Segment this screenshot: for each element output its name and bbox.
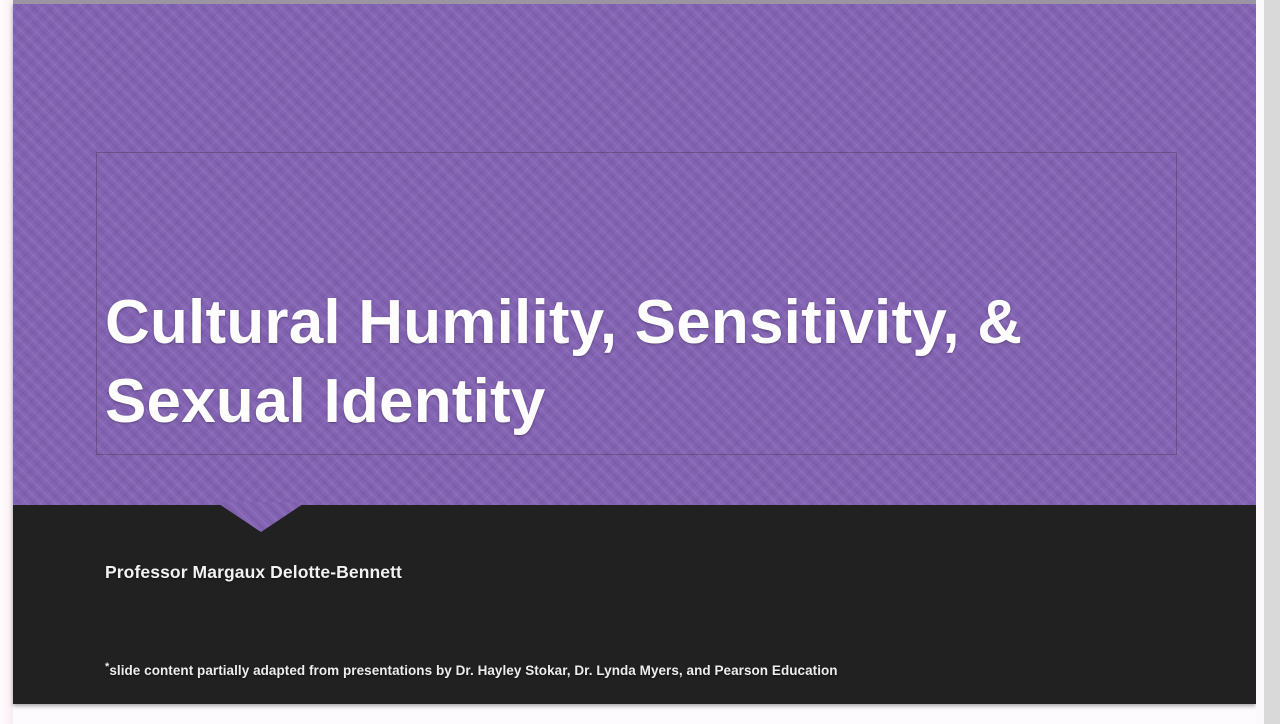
vertical-scrollbar-track[interactable]: [1264, 0, 1280, 724]
page-left-margin: [0, 0, 13, 724]
presentation-viewport: Cultural Humility, Sensitivity, & Sexual…: [0, 0, 1280, 724]
slide-top-border: [13, 0, 1256, 4]
footnote-text: slide content partially adapted from pre…: [109, 663, 837, 678]
page-right-margin: [1256, 0, 1264, 724]
hero-band-pointer-triangle: [216, 502, 306, 532]
slide-author: Professor Margaux Delotte-Bennett: [105, 562, 402, 583]
slide-title: Cultural Humility, Sensitivity, & Sexual…: [105, 284, 1175, 441]
presentation-slide[interactable]: Cultural Humility, Sensitivity, & Sexual…: [13, 3, 1256, 704]
slide-footnote: *slide content partially adapted from pr…: [105, 661, 838, 678]
